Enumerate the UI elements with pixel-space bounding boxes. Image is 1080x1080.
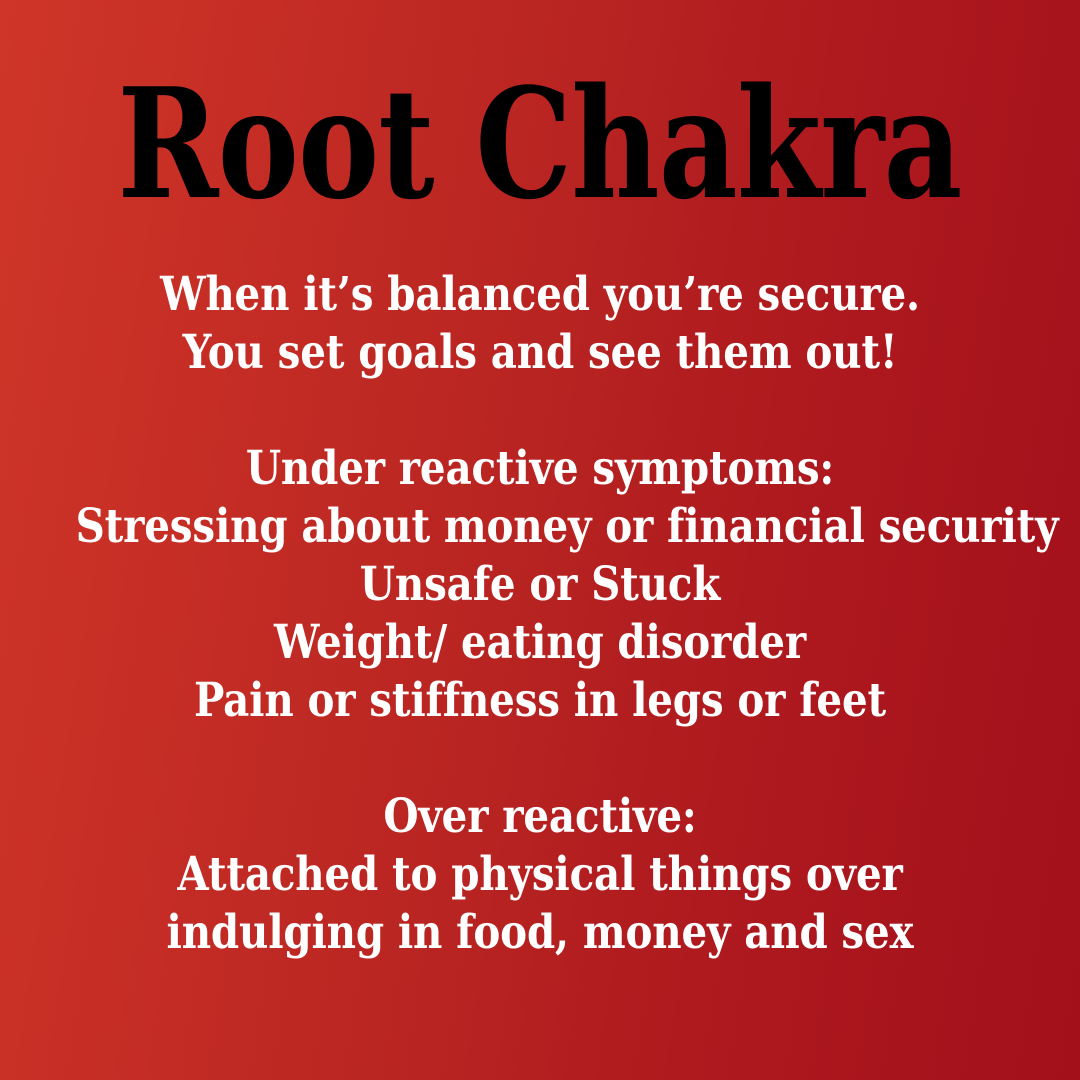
section-spacer-1 [0, 382, 1080, 440]
under-reactive-symptom-2: Unsafe or Stuck [76, 556, 1005, 614]
over-reactive-symptom-1: Attached to physical things over indulgi… [76, 846, 1005, 962]
over-reactive-heading: Over reactive: [76, 788, 1005, 846]
under-reactive-symptom-1: Stressing about money or financial secur… [76, 498, 1005, 556]
title-block: Root Chakra [0, 64, 1080, 224]
under-reactive-symptom-4: Pain or stiffness in legs or feet [76, 672, 1005, 730]
body-copy: When it’s balanced you’re secure. You se… [0, 266, 1080, 962]
root-chakra-graphic: Root Chakra When it’s balanced you’re se… [0, 0, 1080, 1080]
balanced-line-1: When it’s balanced you’re secure. [76, 266, 1005, 324]
section-spacer-2 [0, 730, 1080, 788]
under-reactive-heading: Under reactive symptoms: [76, 440, 1005, 498]
page-title: Root Chakra [118, 64, 962, 224]
balanced-line-2: You set goals and see them out! [76, 324, 1005, 382]
under-reactive-symptom-3: Weight/ eating disorder [76, 614, 1005, 672]
